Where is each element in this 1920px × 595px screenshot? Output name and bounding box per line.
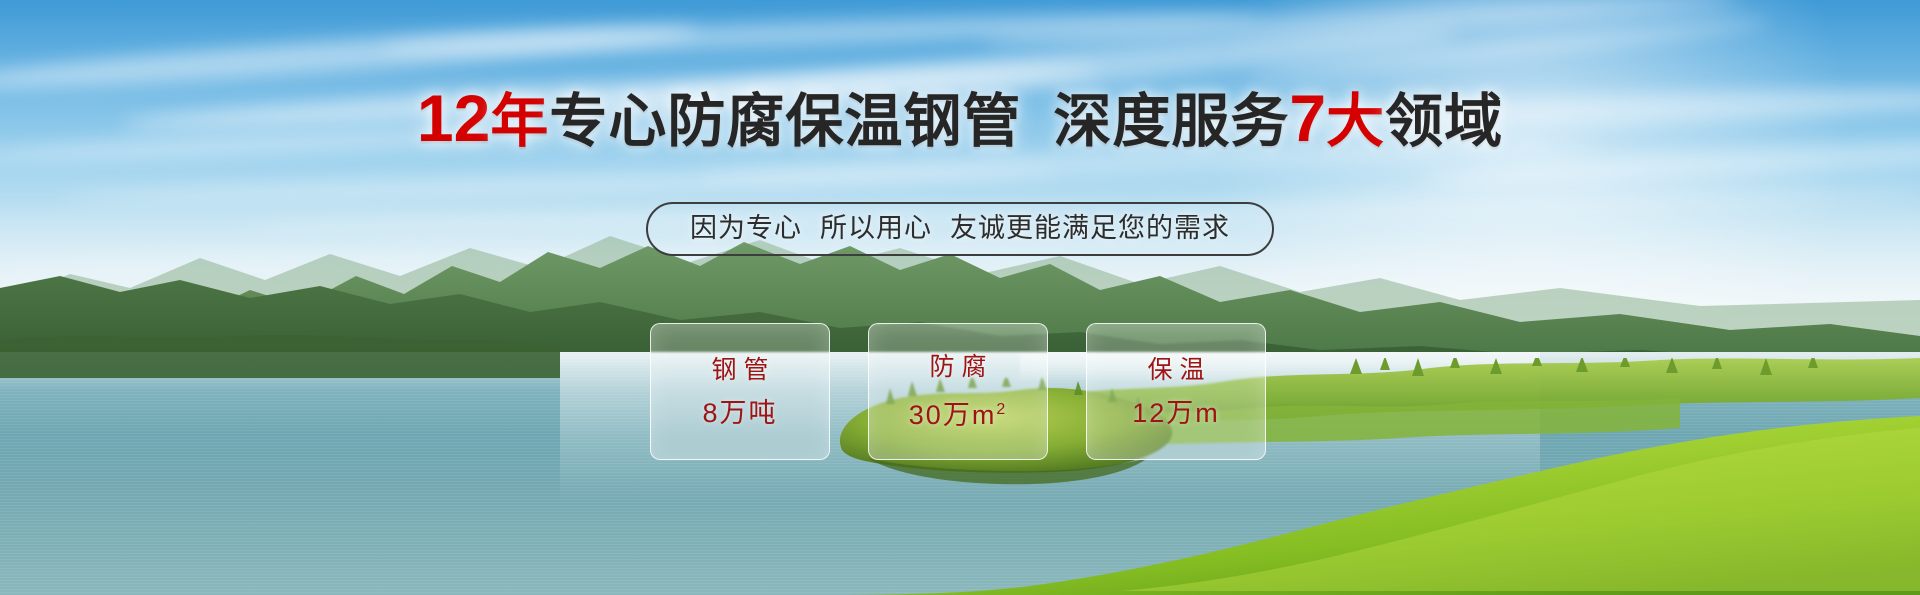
stat-card-list: 钢管 8万吨 防腐 30万m2 保温 12万m — [650, 323, 1266, 460]
headline-years-unit: 年 — [490, 89, 549, 154]
stat-card-title: 钢管 — [704, 357, 775, 383]
stat-card-value: 12万m — [1132, 399, 1220, 427]
stat-card-value-exponent: 2 — [996, 401, 1007, 418]
promo-banner: 12年专心防腐保温钢管深度服务7大领域 因为专心所以用心友诚更能满足您的需求 钢… — [0, 0, 1920, 595]
subtitle-pill: 因为专心所以用心友诚更能满足您的需求 — [646, 202, 1274, 256]
stat-card-insulation: 保温 12万m — [1086, 323, 1266, 460]
stat-card-value: 30万m2 — [909, 396, 1007, 429]
stat-card-value-main: 12万m — [1132, 398, 1220, 428]
subtitle-part-3: 友诚更能满足您的需求 — [950, 213, 1230, 243]
subtitle-part-1: 因为专心 — [690, 213, 802, 243]
headline-trailing-text: 领域 — [1385, 89, 1503, 154]
headline-service-text: 深度服务 — [1053, 89, 1289, 154]
stat-card-value-main: 8万吨 — [702, 398, 777, 428]
subtitle-container: 因为专心所以用心友诚更能满足您的需求 — [0, 202, 1920, 256]
stat-card-title: 保温 — [1140, 357, 1211, 383]
stat-card-steel-pipe: 钢管 8万吨 — [650, 323, 830, 460]
page-title: 12年专心防腐保温钢管深度服务7大领域 — [0, 84, 1920, 156]
headline-years-number: 12 — [417, 81, 490, 155]
stat-card-anticorrosion: 防腐 30万m2 — [868, 323, 1048, 460]
stat-card-value: 8万吨 — [702, 399, 777, 427]
headline-lead-text: 专心防腐保温钢管 — [549, 89, 1021, 154]
headline-fields-number: 7 — [1289, 81, 1326, 155]
stat-card-value-main: 30万m — [909, 400, 997, 430]
stat-card-title: 防腐 — [922, 354, 993, 380]
headline-fields-unit: 大 — [1326, 89, 1385, 154]
subtitle-part-2: 所以用心 — [820, 213, 932, 243]
